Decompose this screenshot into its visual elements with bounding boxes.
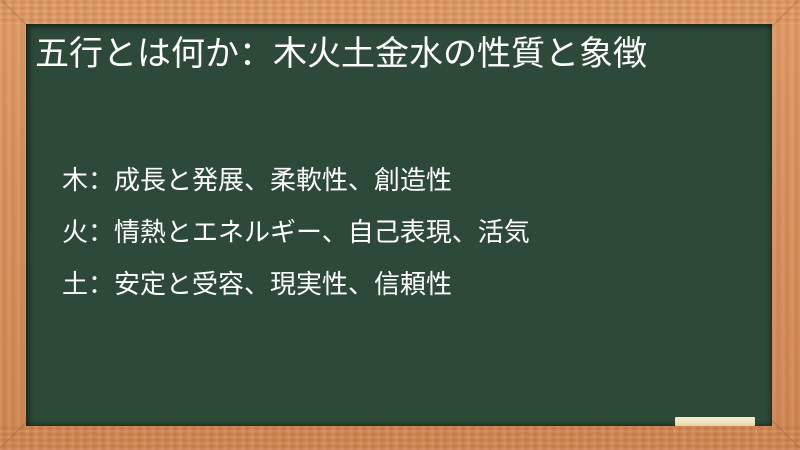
slide-body-line-wood: 木：成長と発展、柔軟性、創造性	[62, 154, 752, 206]
slide-title: 五行とは何か：木火土金水の性質と象徴	[35, 32, 751, 77]
slide-body-line-fire: 火：情熱とエネルギー、自己表現、活気	[62, 206, 752, 258]
frame-bottom-rail	[0, 426, 800, 450]
chalkboard-surface: 五行とは何か：木火土金水の性質と象徴 木：成長と発展、柔軟性、創造性 火：情熱と…	[26, 24, 772, 426]
chalkboard-slide: 五行とは何か：木火土金水の性質と象徴 木：成長と発展、柔軟性、創造性 火：情熱と…	[0, 0, 800, 450]
frame-top-rail	[0, 0, 800, 24]
slide-body-list: 木：成長と発展、柔軟性、創造性 火：情熱とエネルギー、自己表現、活気 土：安定と…	[62, 154, 752, 310]
chalk-stick	[675, 417, 755, 426]
slide-body-line-earth: 土：安定と受容、現実性、信頼性	[62, 258, 752, 310]
